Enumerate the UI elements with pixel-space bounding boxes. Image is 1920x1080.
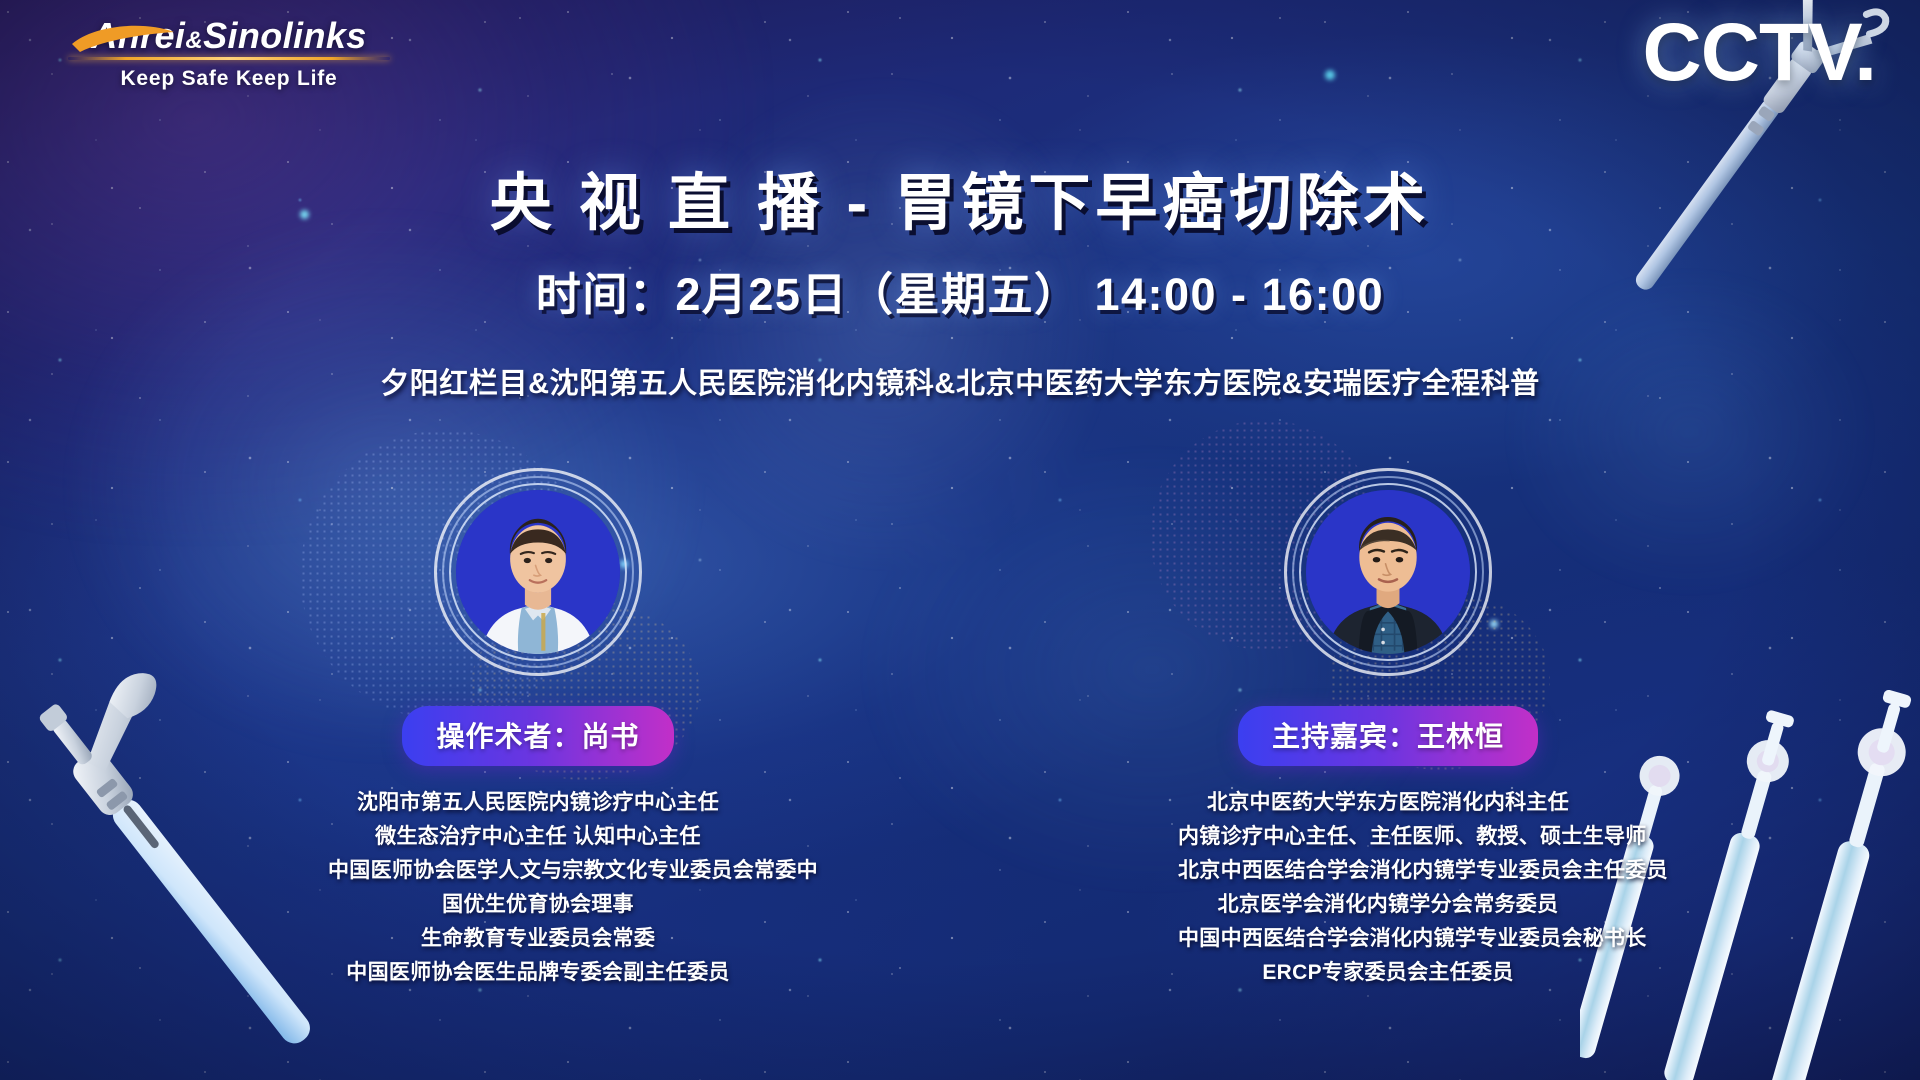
male-doctor-white-coat-portrait-icon [456, 490, 620, 654]
credential-item: 北京中西医结合学会消化内镜学专业委员会主任委员 [1178, 854, 1598, 888]
credential-item: 微生态治疗中心主任 认知中心主任 [328, 820, 748, 854]
credential-item: 北京中医药大学东方医院消化内科主任 [1178, 786, 1598, 820]
brand-underline-rule [68, 57, 390, 60]
person-card-operator: 操作术者：尚书 沈阳市第五人民医院内镜诊疗中心主任 微生态治疗中心主任 认知中心… [328, 468, 748, 990]
brand-name-part2: Sinolinks [203, 15, 367, 56]
event-subtitle: 夕阳红栏目&沈阳第五人民医院消化内镜科&北京中医药大学东方医院&安瑞医疗全程科普 [0, 360, 1920, 402]
credentials-list-host: 北京中医药大学东方医院消化内科主任 内镜诊疗中心主任、主任医师、教授、硕士生导师… [1178, 786, 1598, 990]
person-card-host: 主持嘉宾：王林恒 北京中医药大学东方医院消化内科主任 内镜诊疗中心主任、主任医师… [1178, 468, 1598, 990]
person-badge-host: 主持嘉宾：王林恒 [1238, 706, 1538, 766]
male-host-dark-jacket-portrait-icon [1306, 490, 1470, 654]
brand-tagline: Keep Safe Keep Life [64, 67, 394, 91]
credentials-list-operator: 沈阳市第五人民医院内镜诊疗中心主任 微生态治疗中心主任 认知中心主任 中国医师协… [328, 786, 748, 990]
avatar [1284, 468, 1492, 676]
avatar [434, 468, 642, 676]
cctv-logo: CCTV. [1643, 12, 1876, 94]
event-time: 时间：2月25日（星期五） 14:00 - 16:00 [0, 258, 1920, 323]
credential-item: 沈阳市第五人民医院内镜诊疗中心主任 [328, 786, 748, 820]
credential-item: 生命教育专业委员会常委 [328, 922, 748, 956]
credential-item: 中国中西医结合学会消化内镜学专业委员会秘书长 [1178, 922, 1598, 956]
credential-item: 中国医师协会医学人文与宗教文化专业委员会常委中 [328, 854, 748, 888]
page-title: 央 视 直 播 - 胃镜下早癌切除术 [0, 152, 1920, 242]
poster-canvas: Anrei&Sinolinks Keep Safe Keep Life CCTV… [0, 0, 1920, 1080]
credential-item: 北京医学会消化内镜学分会常务委员 [1178, 888, 1598, 922]
brand-ampersand: & [185, 27, 203, 54]
brand-logo: Anrei&Sinolinks Keep Safe Keep Life [64, 18, 394, 91]
credential-item: 国优生优育协会理事 [328, 888, 748, 922]
credential-item: 中国医师协会医生品牌专委会副主任委员 [328, 956, 748, 990]
person-badge-operator: 操作术者：尚书 [402, 706, 673, 766]
credential-item: ERCP专家委员会主任委员 [1178, 956, 1598, 990]
avatar-photo-operator [456, 490, 620, 654]
brand-swoosh-icon [70, 24, 180, 54]
avatar-photo-host [1306, 490, 1470, 654]
credential-item: 内镜诊疗中心主任、主任医师、教授、硕士生导师 [1178, 820, 1598, 854]
